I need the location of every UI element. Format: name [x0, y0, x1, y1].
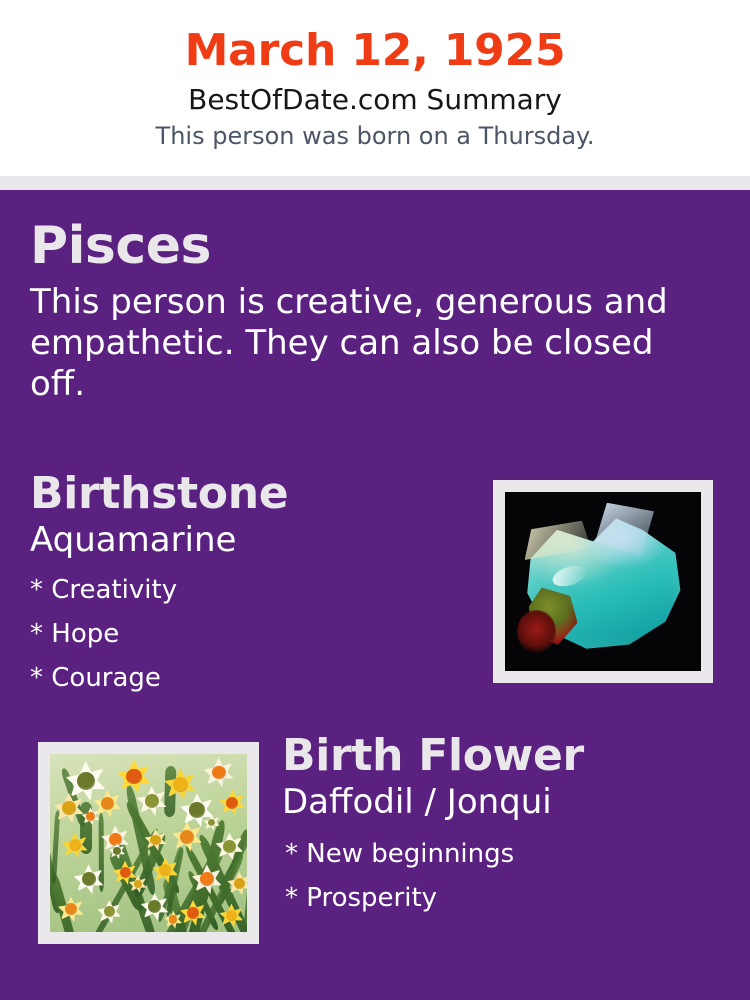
daffodil-bloom [137, 786, 167, 816]
bloom-center [150, 835, 160, 845]
daffodil-bloom [62, 832, 88, 858]
daffodil-bloom [204, 758, 234, 788]
list-item: * Courage [30, 656, 480, 700]
bloom-center [62, 801, 76, 815]
bloom-center [189, 802, 205, 818]
header-divider [0, 176, 750, 190]
bloom-center [69, 839, 81, 851]
birth-flower-image [50, 754, 247, 932]
bloom-center [187, 907, 199, 919]
bloom-center [120, 867, 131, 878]
daffodil-bloom [219, 904, 243, 928]
bloom-center [212, 766, 226, 780]
site-name-subtitle: BestOfDate.com Summary [0, 82, 750, 118]
birth-date-summary-card: March 12, 1925 BestOfDate.com Summary Th… [0, 0, 750, 1000]
list-item: * Creativity [30, 568, 480, 612]
day-of-week-line: This person was born on a Thursday. [0, 120, 750, 152]
daffodil-bloom [219, 790, 245, 816]
zodiac-description: This person is creative, generous and em… [30, 282, 702, 405]
details-panel: Pisces This person is creative, generous… [0, 190, 750, 1000]
bloom-center [113, 847, 120, 854]
zodiac-sign-heading: Pisces [30, 216, 720, 276]
birthstone-section: Birthstone Aquamarine * Creativity * Hop… [30, 468, 480, 700]
birthstone-trait-list: * Creativity * Hope * Courage [30, 568, 480, 700]
bloom-center [173, 777, 188, 792]
list-item: * Prosperity [285, 876, 722, 920]
bloom-center [145, 794, 159, 808]
bloom-center [226, 797, 238, 809]
bloom-center [77, 772, 95, 790]
crystal-red-mineral [517, 610, 556, 653]
daffodil-bloom [145, 829, 167, 851]
bloom-center [234, 878, 245, 889]
bloom-center [82, 872, 96, 886]
daffodil-bloom [58, 896, 84, 922]
bloom-center [101, 797, 114, 810]
list-item: * New beginnings [285, 832, 722, 876]
birthstone-image-frame [493, 480, 713, 683]
daffodil-bloom [129, 875, 147, 893]
birthstone-image [505, 492, 701, 671]
bloom-center [200, 872, 214, 886]
daffodil-bloom [204, 815, 220, 831]
birth-flower-trait-list: * New beginnings * Prosperity [282, 832, 722, 920]
daffodil-bloom [54, 793, 84, 823]
bloom-center [180, 830, 194, 844]
leaf-shape [51, 810, 60, 884]
daffodil-bloom [192, 864, 222, 894]
daffodil-bloom [164, 911, 182, 929]
daffodil-bloom [109, 843, 125, 859]
birth-flower-section: Birth Flower Daffodil / Jonqui * New beg… [282, 730, 722, 920]
birth-flower-image-frame [38, 742, 259, 944]
list-item: * Hope [30, 612, 480, 656]
bloom-center [86, 812, 94, 820]
daffodil-bloom [82, 807, 100, 825]
daffodil-bloom [74, 864, 104, 894]
zodiac-section: Pisces This person is creative, generous… [30, 216, 720, 405]
daffodil-bloom [172, 822, 202, 852]
birthstone-heading: Birthstone [30, 468, 480, 520]
aquamarine-crystal-icon [505, 492, 701, 671]
daffodil-bloom [97, 900, 121, 924]
daffodil-bloom [180, 900, 206, 926]
birthstone-name: Aquamarine [30, 520, 480, 560]
bloom-center [134, 880, 142, 888]
bloom-center [126, 769, 142, 785]
page-title-date: March 12, 1925 [0, 24, 750, 78]
bloom-center [226, 910, 237, 921]
daffodil-field-icon [50, 754, 247, 932]
bloom-center [223, 840, 236, 853]
header: March 12, 1925 BestOfDate.com Summary Th… [0, 0, 750, 176]
daffodil-bloom [227, 871, 247, 895]
birth-flower-heading: Birth Flower [282, 730, 722, 782]
birth-flower-name: Daffodil / Jonqui [282, 782, 722, 822]
